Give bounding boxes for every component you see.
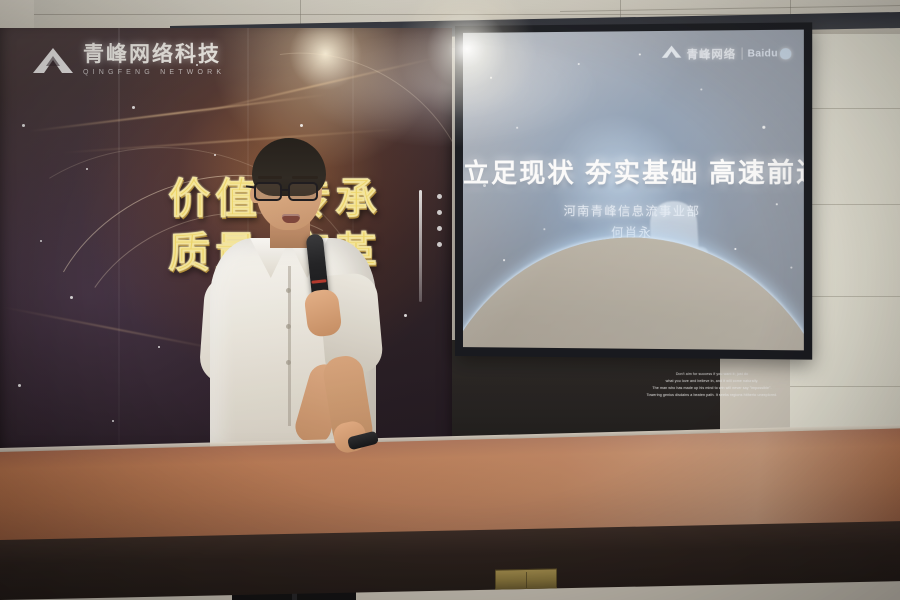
mountain-peak-icon	[32, 47, 74, 74]
banner-logo-en: QINGFENG NETWORK	[83, 69, 225, 76]
conference-photo-scene: 青峰网络科技 QINGFENG NETWORK 价值 传承 质量 变革 Don'…	[0, 0, 900, 600]
baidu-paw-icon	[780, 48, 791, 59]
baidu-name: Baidu	[747, 48, 777, 59]
projection-screen: 青峰网络 Baidu 立足现状 夯实基础 高速前进 河南青峰信息流事业部 何肖永	[463, 30, 804, 351]
eyeglasses	[254, 182, 326, 201]
earth-horizon-graphic	[463, 237, 804, 350]
speaker-hand-left	[303, 288, 342, 338]
slide-logo: 青峰网络 Baidu	[661, 44, 791, 63]
wall-quote-line: what you love and believe in, and it wil…	[622, 378, 802, 385]
speaker-mouth	[282, 214, 300, 223]
banner-logo-cn: 青峰网络科技	[83, 44, 225, 65]
slogan-divider	[419, 190, 422, 302]
baidu-logo: Baidu	[747, 48, 791, 60]
logo-separator	[741, 47, 742, 59]
mountain-peak-icon	[661, 45, 682, 63]
wall-quote: Don't aim for success if you want it; ju…	[622, 371, 802, 399]
slide-subtitle-line-1: 河南青峰信息流事业部	[463, 201, 804, 223]
wall-quote-line: Towering genius disdains a beaten path. …	[622, 392, 802, 399]
wall-quote-line: The man who has made up his mind to win …	[622, 385, 802, 392]
slogan-dots	[437, 194, 442, 247]
brass-floor-plate	[495, 568, 557, 589]
projection-screen-frame: 青峰网络 Baidu 立足现状 夯实基础 高速前进 河南青峰信息流事业部 何肖永	[455, 22, 812, 359]
banner-logo: 青峰网络科技 QINGFENG NETWORK	[32, 44, 225, 76]
wall-quote-line: Don't aim for success if you want it; ju…	[622, 371, 802, 378]
slide-title: 立足现状 夯实基础 高速前进	[463, 152, 804, 190]
slide-logo-cn: 青峰网络	[687, 46, 736, 63]
